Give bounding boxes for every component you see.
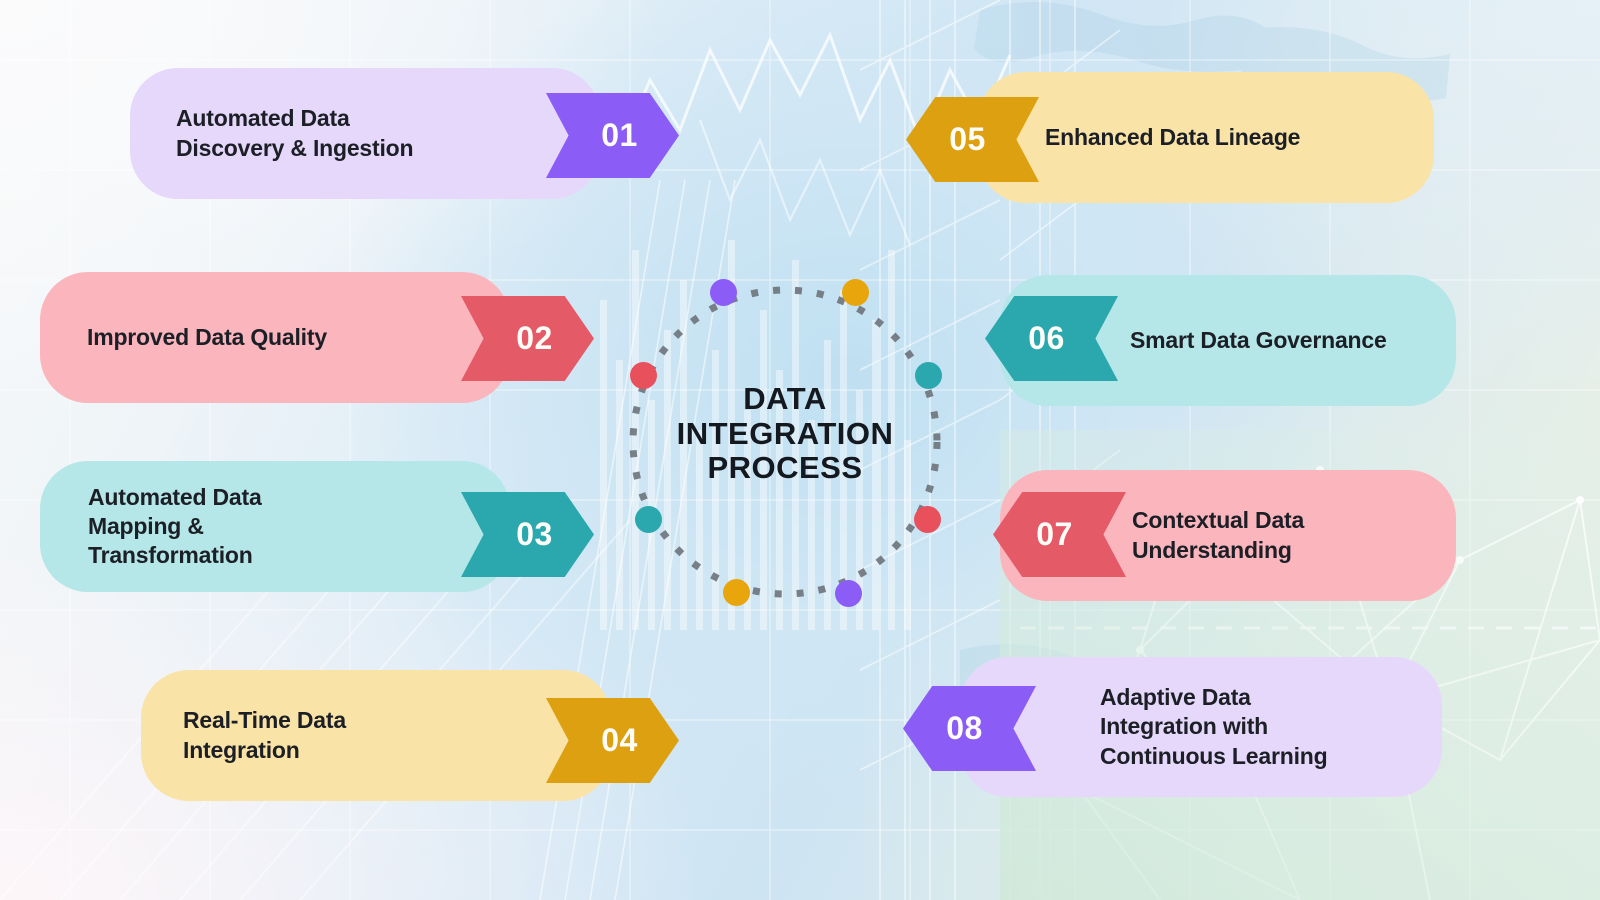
node-03-dot — [635, 506, 662, 533]
center-hub: DATA INTEGRATION PROCESS — [0, 0, 1600, 900]
center-title: DATA INTEGRATION PROCESS — [640, 382, 930, 486]
node-01-dot — [710, 279, 737, 306]
node-04-dot — [723, 579, 750, 606]
node-07-dot — [914, 506, 941, 533]
node-08-dot — [835, 580, 862, 607]
node-05-dot — [842, 279, 869, 306]
